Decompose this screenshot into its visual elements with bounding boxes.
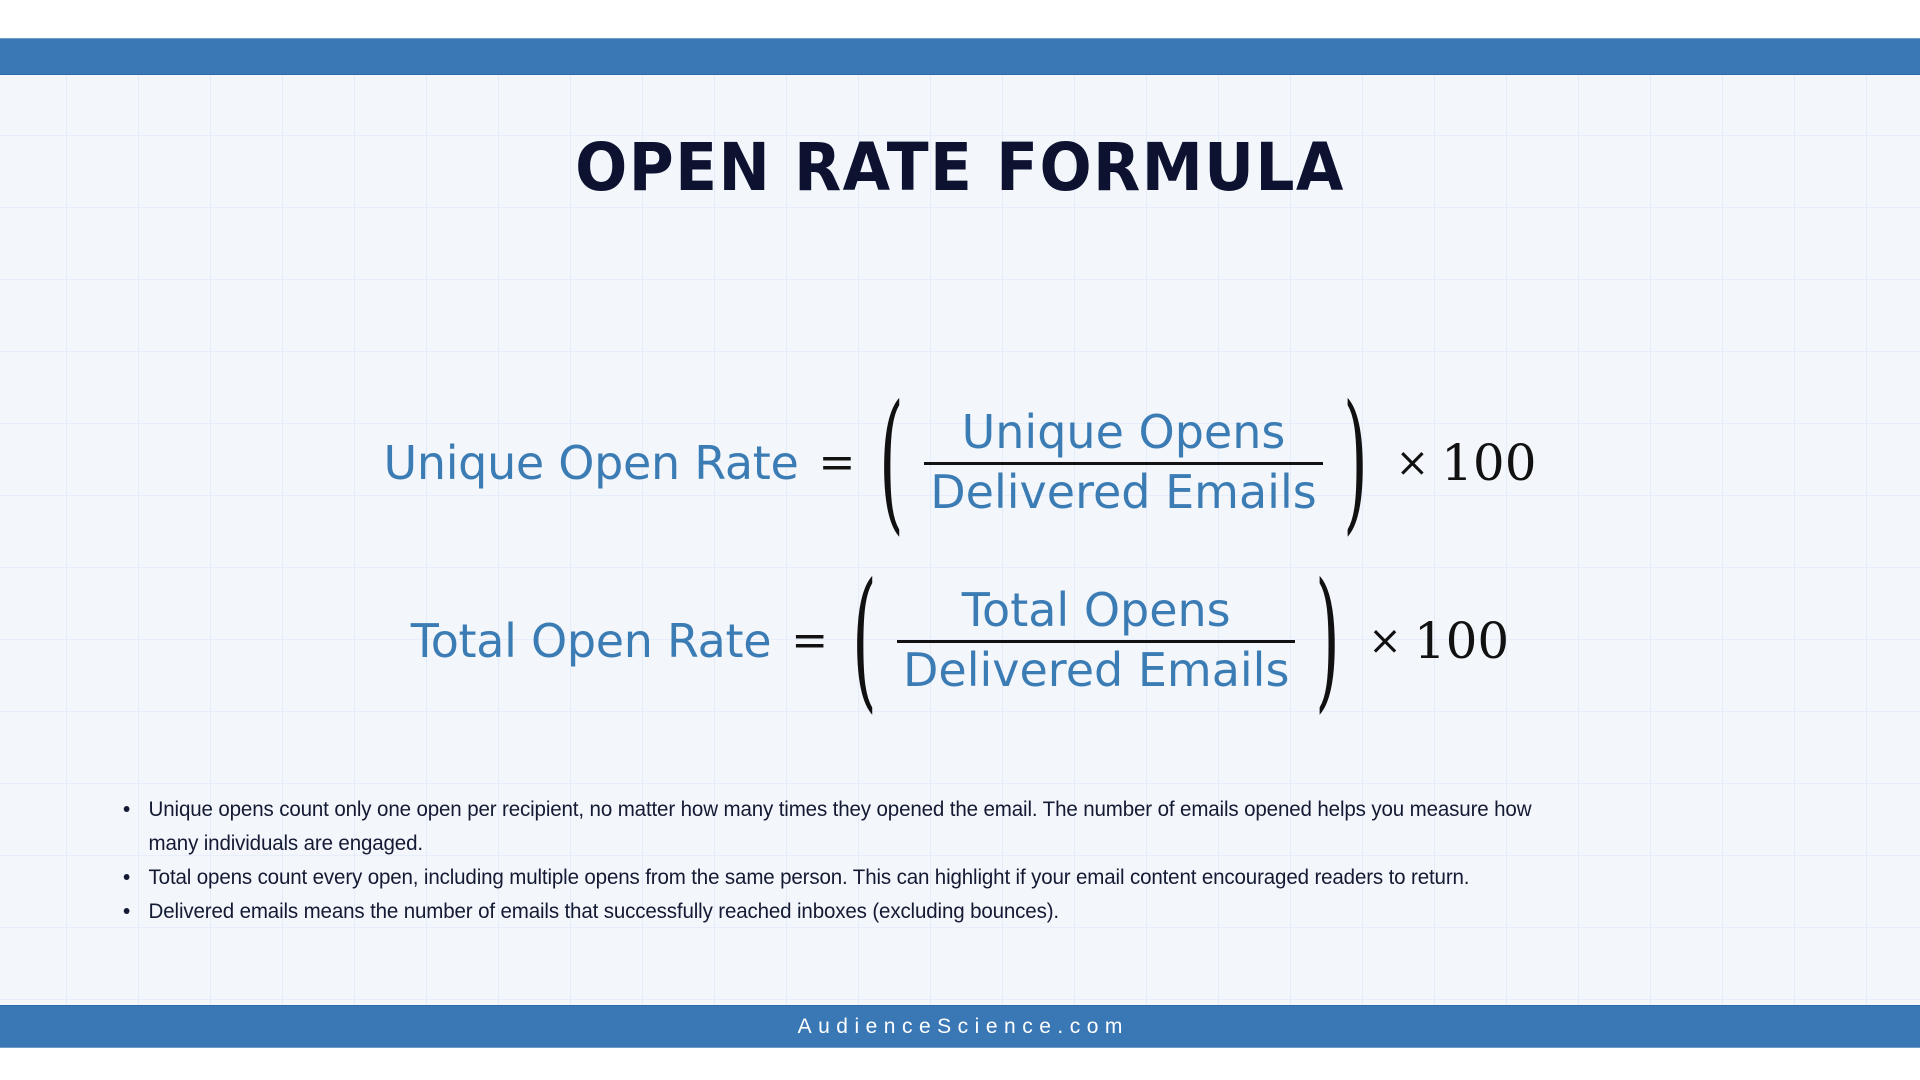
fraction-numerator: Unique Opens [956,407,1292,459]
list-item: Total opens count every open, including … [118,861,1827,895]
fraction-denominator: Delivered Emails [897,645,1295,697]
list-item-text: Total opens count every open, including … [149,865,1470,889]
paren-close: ) [1343,390,1368,534]
page-title: OPEN RATE FORMULA [67,135,1853,201]
equals-sign: = [791,619,828,663]
list-item: Delivered emails means the number of ema… [118,895,1827,929]
bullet-dot-icon [124,908,130,914]
fraction-denominator: Delivered Emails [924,467,1322,519]
list-item-text: Delivered emails means the number of ema… [149,899,1059,923]
list-item: Unique opens count only one open per rec… [118,793,1531,861]
notes-list: Unique opens count only one open per rec… [118,793,1908,929]
multiply-icon: × [1368,621,1402,661]
fraction: Total Opens Delivered Emails [897,585,1295,696]
formula-label: Unique Open Rate [383,436,798,490]
fraction-numerator: Total Opens [956,585,1237,637]
multiplier-value: 100 [1441,438,1536,488]
multiply-icon: × [1396,443,1430,483]
top-white-margin [0,0,1920,38]
bullet-dot-icon [124,806,130,812]
bottom-white-margin [0,1048,1920,1080]
formula-label: Total Open Rate [411,614,772,668]
multiplier-value: 100 [1414,616,1509,666]
bullet-dot-icon [124,874,130,880]
top-accent-bar [0,38,1920,75]
paren-open: ( [852,568,877,712]
fraction: Unique Opens Delivered Emails [924,407,1322,518]
content-area: OPEN RATE FORMULA Unique Open Rate = ( U… [0,75,1920,1005]
paren-open: ( [880,390,905,534]
formula-total-open-rate: Total Open Rate = ( Total Opens Delivere… [0,585,1920,696]
footer-brand: AudienceScience.com [791,1015,1129,1039]
paren-close: ) [1316,568,1341,712]
equals-sign: = [819,441,856,485]
formula-unique-open-rate: Unique Open Rate = ( Unique Opens Delive… [0,407,1920,518]
footer-bar: AudienceScience.com [0,1005,1920,1048]
list-item-text: Unique opens count only one open per rec… [149,793,1532,861]
infographic-canvas: OPEN RATE FORMULA Unique Open Rate = ( U… [0,0,1920,1080]
